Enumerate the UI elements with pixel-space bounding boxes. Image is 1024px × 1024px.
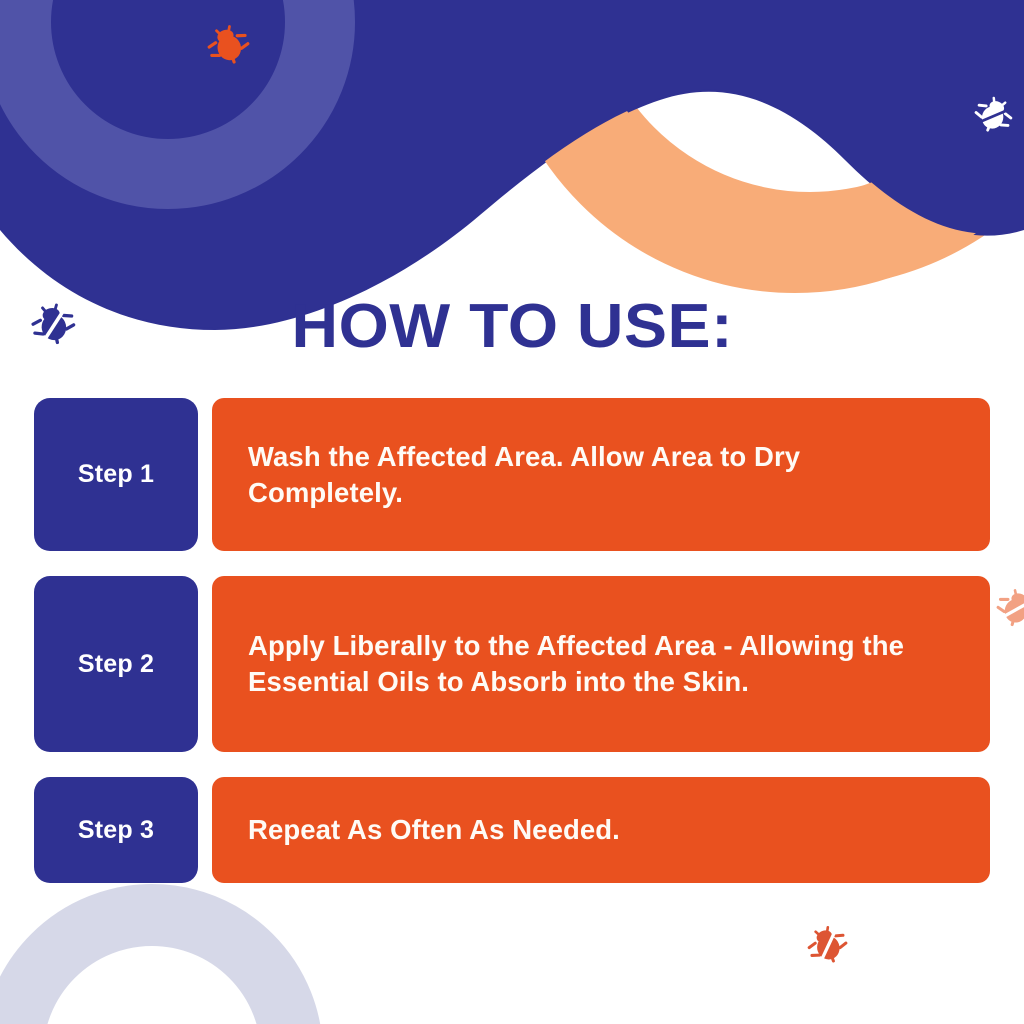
step-badge-1: Step 1 bbox=[34, 398, 198, 551]
step-bar-3: Repeat As Often As Needed. bbox=[212, 777, 990, 883]
step-bar-1: Wash the Affected Area. Allow Area to Dr… bbox=[212, 398, 990, 551]
lavender-ring-bottom-left bbox=[12, 915, 292, 1024]
step-badge-3: Step 3 bbox=[34, 777, 198, 883]
step-row: Step 2 Apply Liberally to the Affected A… bbox=[0, 576, 1024, 752]
step-text: Repeat As Often As Needed. bbox=[248, 812, 620, 848]
step-label: Step 3 bbox=[78, 816, 154, 845]
blue-wave-overlay bbox=[0, 0, 1024, 328]
step-row: Step 3 Repeat As Often As Needed. bbox=[0, 777, 1024, 883]
poster-canvas: HOW TO USE: Step 1 Wash the Affected Are… bbox=[0, 0, 1024, 1024]
page-title: HOW TO USE: bbox=[291, 296, 733, 358]
blue-ring-top-left bbox=[16, 0, 320, 174]
step-bar-2: Apply Liberally to the Affected Area - A… bbox=[212, 576, 990, 752]
blue-ring-top-left-2 bbox=[16, 0, 320, 174]
steps-list: Step 1 Wash the Affected Area. Allow Are… bbox=[0, 398, 1024, 883]
step-label: Step 2 bbox=[78, 650, 154, 679]
step-text: Wash the Affected Area. Allow Area to Dr… bbox=[248, 439, 956, 511]
page-title-wrap: HOW TO USE: bbox=[0, 296, 1024, 358]
blue-wave-banner bbox=[0, 0, 1024, 340]
bug-icon-orange-top-left bbox=[200, 16, 255, 71]
step-text: Apply Liberally to the Affected Area - A… bbox=[248, 628, 956, 700]
bug-icon-orange-bottom bbox=[800, 917, 854, 971]
step-label: Step 1 bbox=[78, 460, 154, 489]
step-badge-2: Step 2 bbox=[34, 576, 198, 752]
bug-icon-white-top-right bbox=[968, 88, 1020, 140]
step-row: Step 1 Wash the Affected Area. Allow Are… bbox=[0, 398, 1024, 551]
